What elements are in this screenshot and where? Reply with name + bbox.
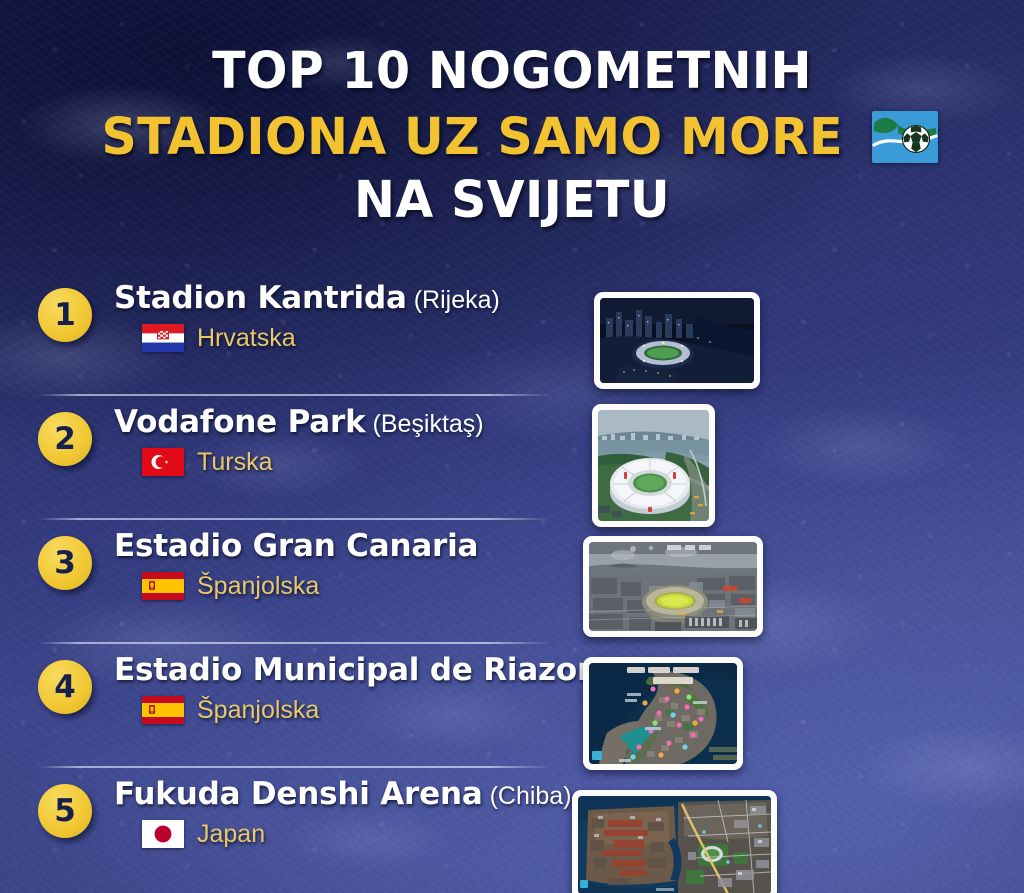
rank-badge: 2 [38,412,92,466]
country-name: Turska [197,448,272,477]
country-line: Hrvatska [142,324,1024,353]
list-item: 3 Estadio Gran Canaria [0,520,1024,644]
stadium-city: (Beşiktaş) [373,410,484,438]
country-name: Španjolska [197,696,319,725]
stadium-photo-gran-canaria [589,542,757,631]
thumb-estadio-gran-canaria[interactable] [583,536,763,637]
flag-spain-icon [142,572,184,600]
rank-badge: 3 [38,536,92,590]
thumb-fukuda-denshi-arena[interactable] [572,790,777,893]
soccer-ball-wave-logo-icon [872,111,938,163]
thumb-vodafone-park[interactable] [592,404,715,527]
stadium-ranking-list: 1 Stadion Kantrida(Rijeka) [0,272,1024,892]
flag-spain-icon [142,696,184,724]
rank-badge: 5 [38,784,92,838]
thumb-stadion-kantrida[interactable] [594,292,760,389]
satellite-map-fukuda-denshi [578,796,771,893]
country-line: Turska [142,448,1024,477]
stadium-name: Vodafone Park [114,404,366,440]
stadium-name-line: Estadio Gran Canaria [114,530,1024,563]
stadium-name-line: Estadio Municipal de Riazor [114,654,1024,687]
title-line-3: NA SVIJETU [20,175,1003,226]
stadium-name: Estadio Gran Canaria [114,528,478,564]
title-line-2-row: STADIONA UZ SAMO MORE [0,111,1024,163]
stadium-photo-vodafone-park [598,410,709,521]
flag-japan-icon [142,820,184,848]
flag-croatia-icon [142,324,184,352]
thumb-estadio-riazor[interactable] [583,657,743,770]
poster-header: TOP 10 NOGOMETNIH STADIONA UZ SAMO MORE … [0,46,1024,226]
stadium-name-line: Vodafone Park(Beşiktaş) [114,406,1024,439]
satellite-map-riazor [589,663,737,764]
title-line-1: TOP 10 NOGOMETNIH [20,46,1003,97]
list-item: 2 Vodafone Park(Beşiktaş) Turska [0,396,1024,520]
list-item: 4 Estadio Municipal de Riazor [0,644,1024,768]
country-name: Španjolska [197,572,319,601]
country-name: Japan [197,820,265,849]
stadium-city: (Chiba) [490,782,572,810]
stadium-city: (Rijeka) [414,286,500,314]
stadium-photo-kantrida [600,298,754,383]
stadium-name: Estadio Municipal de Riazor [114,652,592,688]
stadium-name-line: Stadion Kantrida(Rijeka) [114,282,1024,315]
list-item: 5 Fukuda Denshi Arena(Chiba) Japan [0,768,1024,892]
list-item: 1 Stadion Kantrida(Rijeka) [0,272,1024,396]
country-name: Hrvatska [197,324,296,353]
title-line-2: STADIONA UZ SAMO MORE [101,112,843,163]
stadium-name: Stadion Kantrida [114,280,407,316]
rank-badge: 1 [38,288,92,342]
flag-turkey-icon [142,448,184,476]
stadium-name-line: Fukuda Denshi Arena(Chiba) [114,778,1024,811]
rank-badge: 4 [38,660,92,714]
stadium-name: Fukuda Denshi Arena [114,776,483,812]
infographic-poster: TOP 10 NOGOMETNIH STADIONA UZ SAMO MORE … [0,0,1024,893]
